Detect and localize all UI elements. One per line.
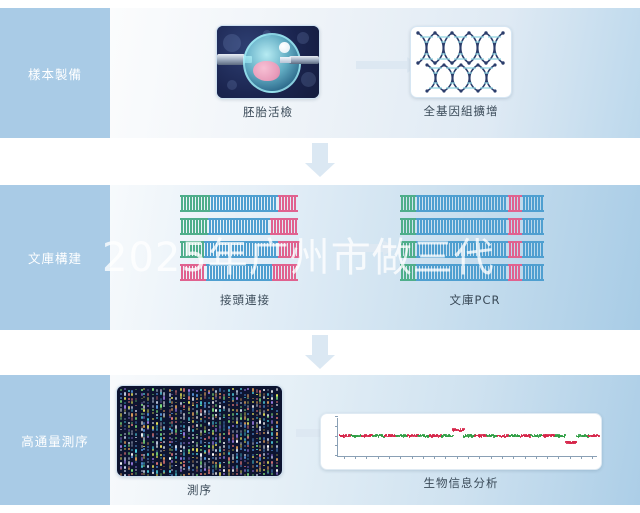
x-axis-tick [423, 456, 424, 459]
dna-fragment [400, 195, 550, 212]
dna-helix-image [410, 26, 512, 98]
step-library-pcr[interactable]: 文庫PCR [400, 195, 550, 308]
cnv-data-point [529, 436, 531, 438]
x-axis-tick [536, 456, 537, 459]
x-axis-tick [525, 456, 526, 459]
biopsy-pipette-icon [289, 56, 319, 64]
dna-fragments-ligated-image [180, 195, 310, 290]
x-axis-tick [344, 456, 345, 459]
x-axis-tick [491, 456, 492, 459]
stage-label-sample-prep: 樣本製備 [0, 8, 110, 138]
x-axis-tick [378, 456, 379, 459]
dna-fragments-amplified-image [400, 195, 550, 290]
dna-fragment [400, 264, 550, 281]
x-axis-tick [592, 456, 593, 459]
cnv-plot-axes [337, 418, 597, 457]
y-axis-tick [335, 436, 338, 437]
cnv-data-point [378, 436, 380, 438]
dna-fragment [180, 195, 310, 212]
x-axis-tick [581, 456, 582, 459]
dna-fragment [180, 241, 310, 258]
x-axis-tick [412, 456, 413, 459]
step-caption-sequencing: 測序 [116, 482, 283, 498]
stage-body-sample-prep: 胚胎活檢 [110, 8, 640, 138]
stage-row-library-construction: 文庫構建 接頭連接 文庫PCR [0, 185, 640, 330]
step-caption-embryo-biopsy: 胚胎活檢 [216, 104, 320, 120]
y-axis-tick [335, 445, 338, 446]
pgt-workflow-diagram: 樣本製備 胚胎活檢 [0, 0, 640, 513]
stage-label-text: 文庫構建 [28, 248, 82, 267]
x-axis-tick [445, 456, 446, 459]
stage-row-sample-prep: 樣本製備 胚胎活檢 [0, 8, 640, 138]
x-axis-tick [570, 456, 571, 459]
sequencing-flowcell-image [116, 385, 283, 477]
cnv-data-point [462, 430, 464, 432]
step-caption-adapter-ligation: 接頭連接 [180, 292, 310, 308]
dna-fragment [180, 218, 310, 235]
stage-label-text: 樣本製備 [28, 64, 82, 83]
dna-fragment [180, 264, 310, 281]
x-axis-tick [513, 456, 514, 459]
stage-label-sequencing: 高通量測序 [0, 375, 110, 505]
cnv-data-point [564, 436, 566, 438]
y-axis-tick [335, 426, 338, 427]
dna-fragment [400, 218, 550, 235]
cnv-data-point [598, 435, 600, 437]
cnv-plot-image [320, 413, 602, 470]
embryo-biopsy-image [216, 25, 320, 99]
stage-body-library-construction: 接頭連接 文庫PCR [110, 185, 640, 330]
dna-double-helix-icon [411, 27, 511, 97]
x-axis-tick [434, 456, 435, 459]
x-axis-tick [547, 456, 548, 459]
step-caption-bioinformatics-analysis: 生物信息分析 [320, 475, 602, 491]
dna-fragment [400, 241, 550, 258]
x-axis-tick [479, 456, 480, 459]
step-embryo-biopsy[interactable]: 胚胎活檢 [216, 25, 320, 120]
x-axis-tick [502, 456, 503, 459]
step-caption-library-pcr: 文庫PCR [400, 292, 550, 308]
cnv-data-point [540, 436, 542, 438]
stage-label-text: 高通量測序 [21, 431, 89, 450]
holding-pipette-icon [217, 54, 245, 65]
cnv-data-point [575, 441, 577, 443]
x-axis-tick [457, 456, 458, 459]
step-bioinformatics-analysis[interactable]: 生物信息分析 [320, 413, 602, 491]
cnv-data-point [349, 436, 351, 438]
arrow-down-icon-2 [305, 335, 335, 369]
arrow-right-icon-library [338, 240, 396, 256]
arrow-down-icon-1 [305, 143, 335, 177]
x-axis-tick [558, 456, 559, 459]
cnv-data-point [452, 435, 454, 437]
stage-label-library-construction: 文庫構建 [0, 185, 110, 330]
y-axis-tick [335, 455, 338, 456]
stage-row-sequencing: 高通量測序 測序 生物信息分析 [0, 375, 640, 505]
stage-body-sequencing: 測序 生物信息分析 [110, 375, 640, 505]
y-axis-tick [335, 416, 338, 417]
step-adapter-ligation[interactable]: 接頭連接 [180, 195, 310, 308]
step-sequencing[interactable]: 測序 [116, 385, 283, 498]
x-axis-tick [400, 456, 401, 459]
x-axis-tick [468, 456, 469, 459]
x-axis-tick [366, 456, 367, 459]
x-axis-tick [389, 456, 390, 459]
step-caption-whole-genome-amplification: 全基因組擴增 [410, 103, 512, 119]
step-whole-genome-amplification[interactable]: 全基因組擴增 [410, 26, 512, 119]
x-axis-tick [355, 456, 356, 459]
